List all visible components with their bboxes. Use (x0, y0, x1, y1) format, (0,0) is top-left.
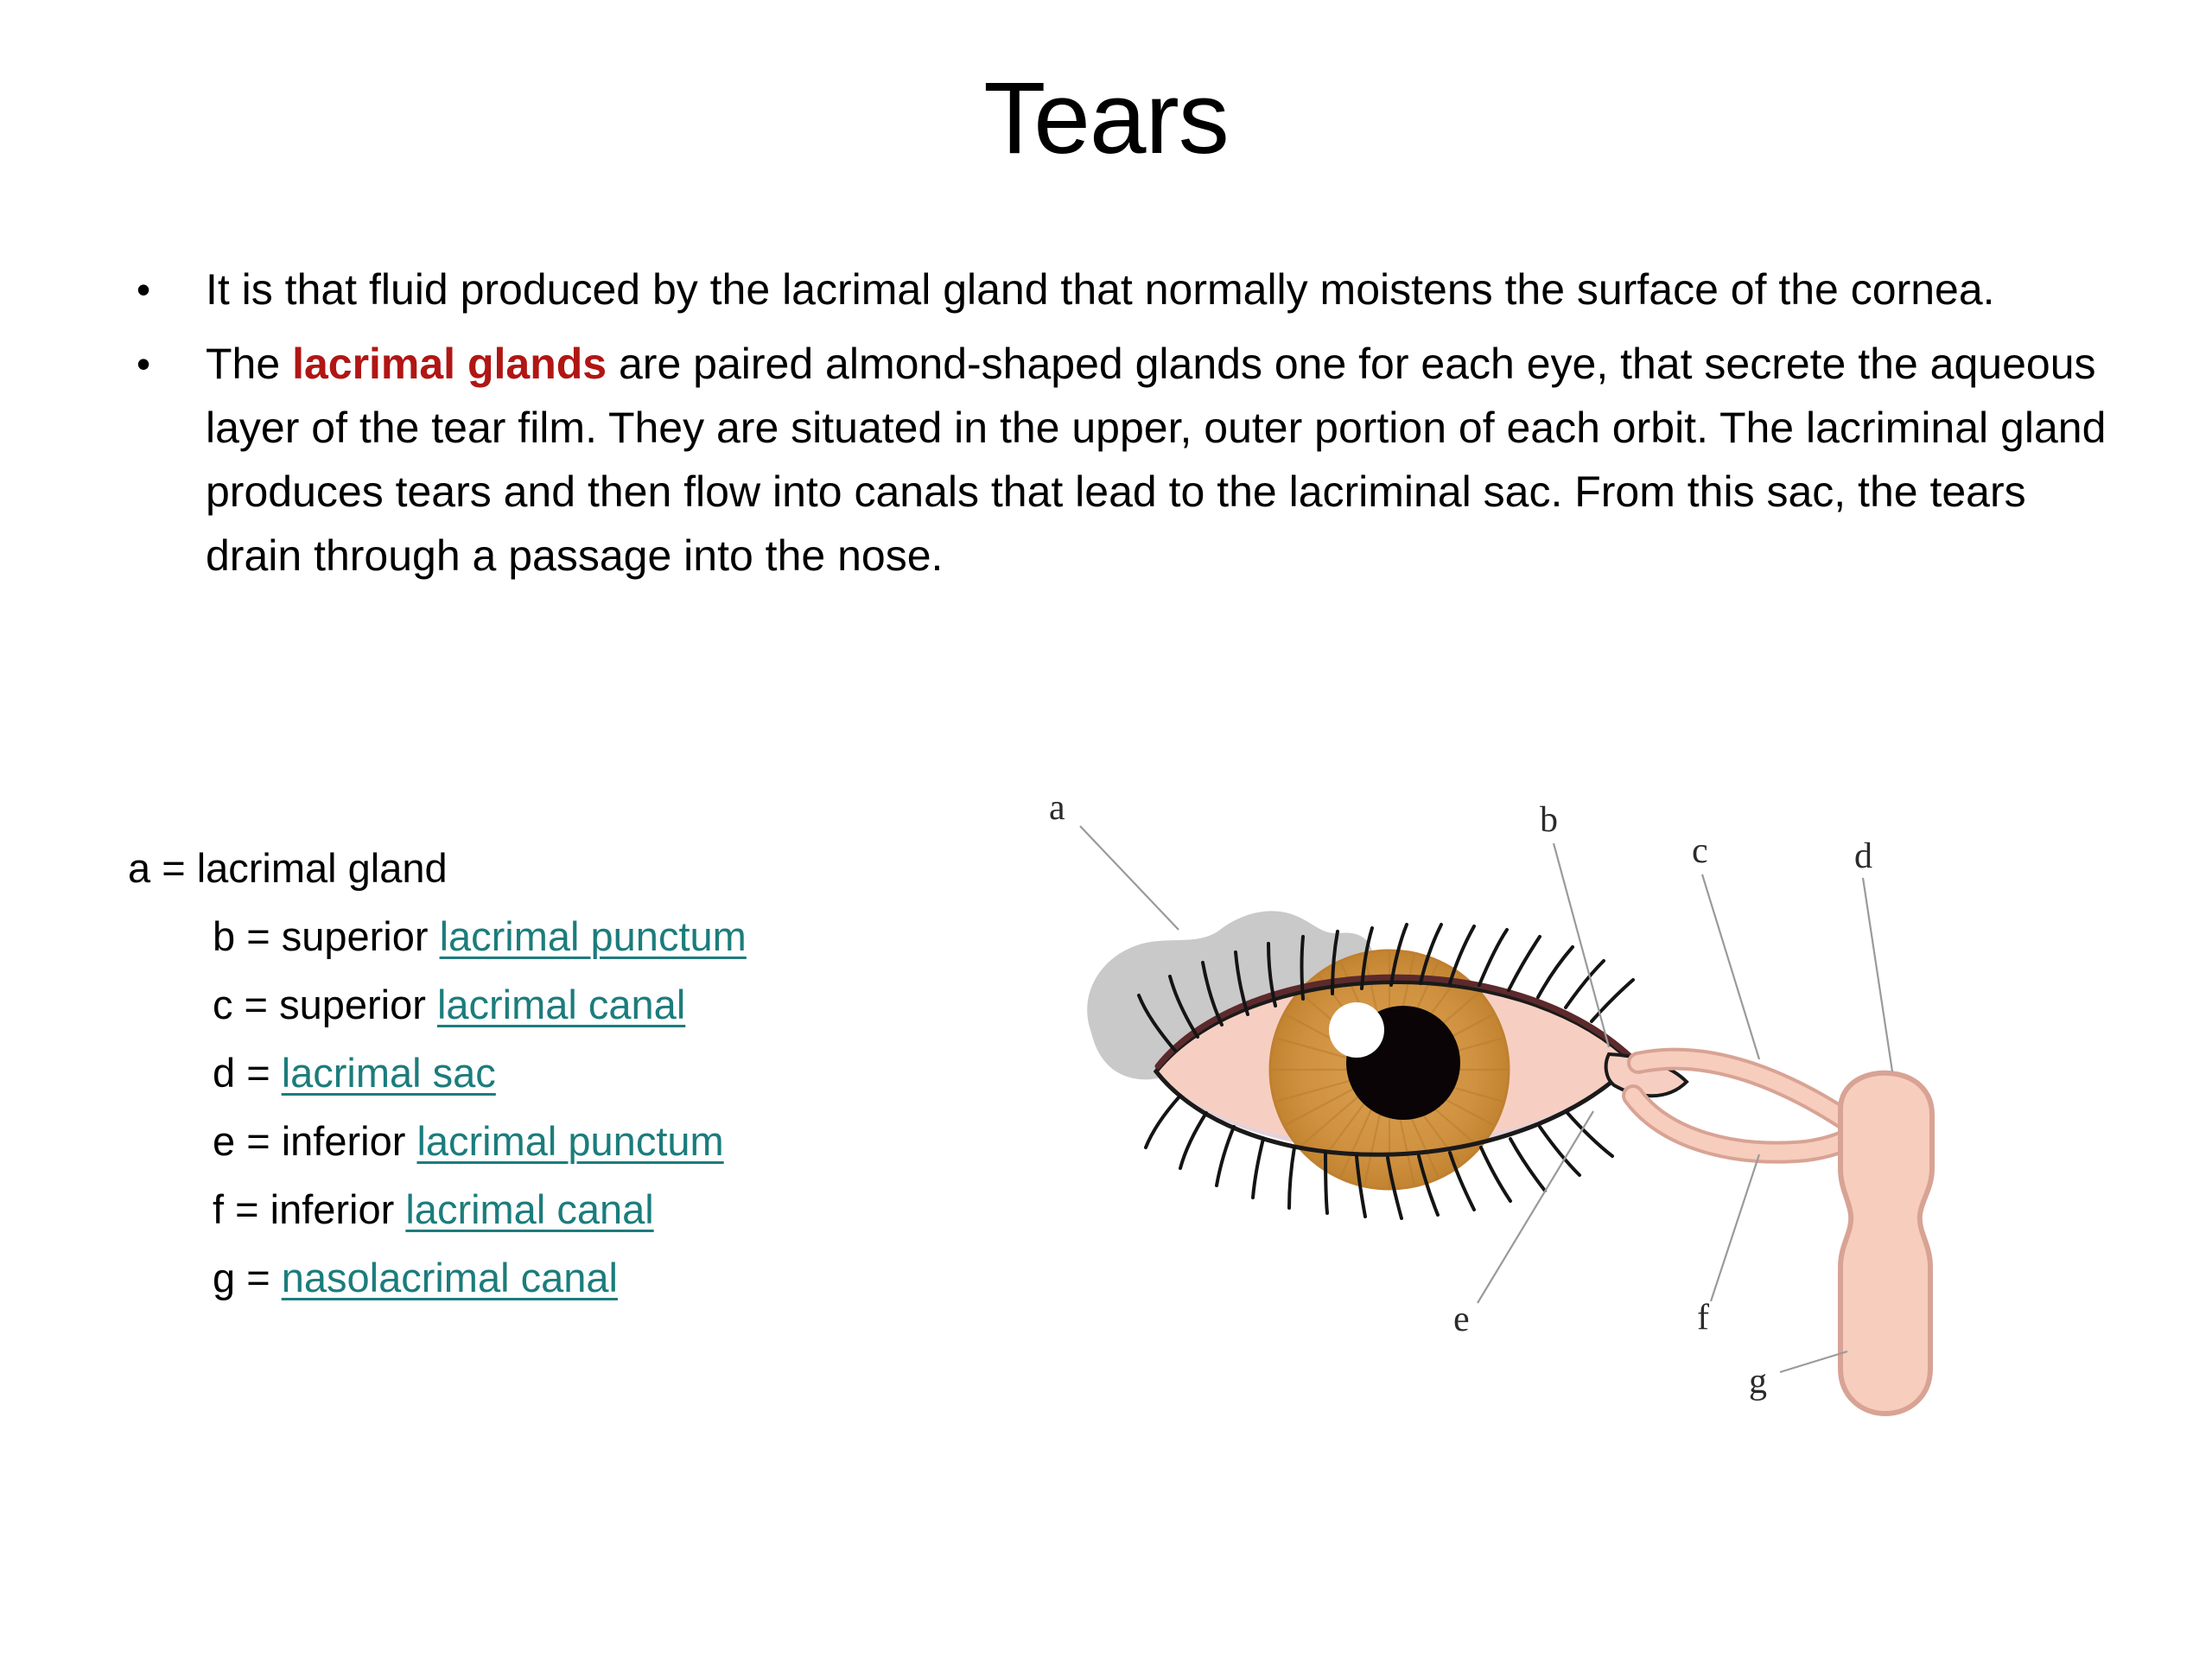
bullet-marker-icon: • (121, 257, 206, 321)
key-letter-f: f = (213, 1186, 270, 1232)
key-item-c: c = superior lacrimal canal (128, 970, 992, 1039)
key-item-b: b = superior lacrimal punctum (128, 902, 992, 970)
leader-line-a (1080, 826, 1179, 930)
key-item-e: e = inferior lacrimal punctum (128, 1107, 992, 1175)
key-plain-f: inferior (270, 1186, 406, 1232)
page-title: Tears (0, 67, 2212, 169)
diagram-label-d: d (1854, 836, 1872, 876)
key-letter-g: g = (213, 1255, 282, 1300)
key-link-f[interactable]: lacrimal canal (405, 1186, 653, 1232)
key-letter-c: c = (213, 982, 279, 1027)
leader-line-c (1702, 874, 1759, 1059)
key-item-a: a = lacrimal gland (128, 834, 992, 902)
bullet-text-pre: The (206, 340, 292, 388)
diagram-label-c: c (1692, 831, 1708, 871)
emphasis-lacrimal-glands: lacrimal glands (292, 340, 607, 388)
leader-line-g (1780, 1351, 1847, 1372)
key-letter-e: e = (213, 1118, 282, 1164)
key-item-f: f = inferior lacrimal canal (128, 1175, 992, 1243)
lacrimal-apparatus-diagram: a b c d e f g (1028, 778, 2100, 1434)
list-item: • It is that fluid produced by the lacri… (121, 257, 2126, 321)
diagram-key-list: a = lacrimal gland b = superior lacrimal… (128, 834, 992, 1312)
diagram-label-g: g (1749, 1362, 1767, 1402)
leader-line-d (1863, 878, 1892, 1071)
bullet-marker-icon: • (121, 332, 206, 396)
bullet-text: The lacrimal glands are paired almond-sh… (206, 332, 2126, 588)
diagram-label-e: e (1453, 1300, 1470, 1339)
bullet-text: It is that fluid produced by the lacrima… (206, 257, 2126, 321)
corneal-highlight (1329, 1002, 1384, 1058)
lacrimal-sac-and-nasolacrimal-duct (1840, 1073, 1932, 1414)
key-plain-a: lacrimal gland (197, 845, 448, 891)
leader-line-f (1711, 1154, 1759, 1301)
key-item-d: d = lacrimal sac (128, 1039, 992, 1107)
diagram-label-a: a (1049, 788, 1065, 828)
key-plain-e: inferior (282, 1118, 417, 1164)
diagram-label-b: b (1540, 800, 1558, 840)
key-link-g[interactable]: nasolacrimal canal (282, 1255, 618, 1300)
key-letter-b: b = (213, 913, 282, 959)
key-link-e[interactable]: lacrimal punctum (416, 1118, 723, 1164)
key-link-b[interactable]: lacrimal punctum (440, 913, 747, 959)
key-plain-b: superior (282, 913, 440, 959)
bullet-text-pre: It is that fluid produced by the lacrima… (206, 265, 1995, 314)
key-plain-c: superior (279, 982, 437, 1027)
key-item-g: g = nasolacrimal canal (128, 1243, 992, 1312)
key-link-c[interactable]: lacrimal canal (437, 982, 685, 1027)
bullet-list: • It is that fluid produced by the lacri… (121, 257, 2126, 598)
list-item: • The lacrimal glands are paired almond-… (121, 332, 2126, 588)
key-letter-d: d = (213, 1050, 282, 1096)
diagram-label-f: f (1697, 1298, 1709, 1338)
key-letter-a: a = (128, 845, 197, 891)
key-link-d[interactable]: lacrimal sac (282, 1050, 496, 1096)
